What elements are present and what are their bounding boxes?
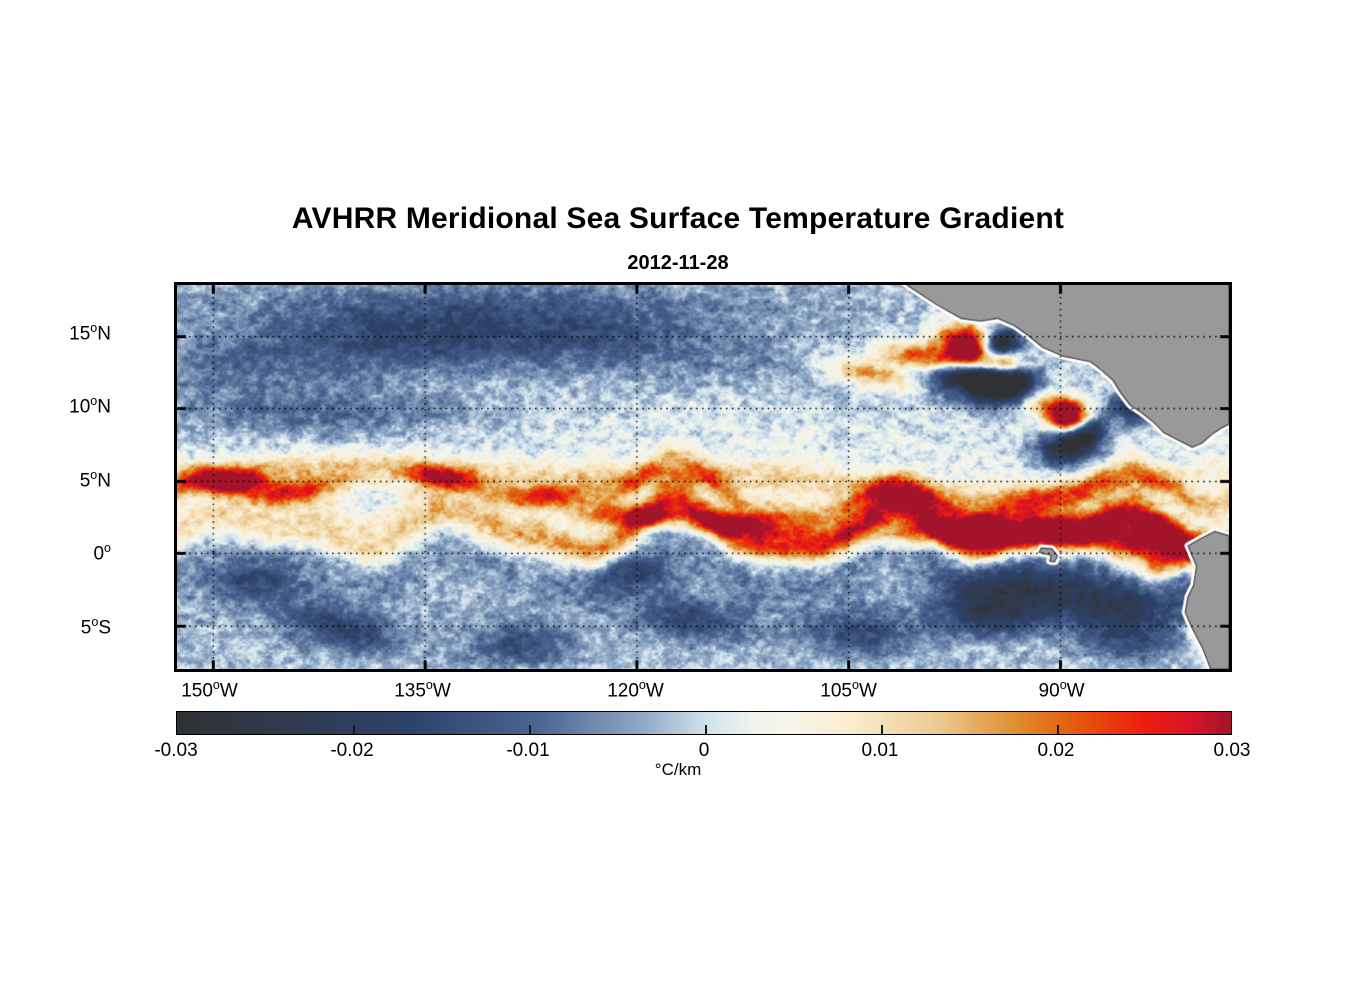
chart-title: AVHRR Meridional Sea Surface Temperature… bbox=[0, 202, 1356, 236]
x-tick-label: 135oW bbox=[394, 678, 451, 702]
colorbar-tick bbox=[1057, 725, 1059, 734]
colorbar-tick-label: 0.02 bbox=[1038, 740, 1075, 762]
y-tick-label: 5oN bbox=[80, 468, 111, 492]
colorbar-tick-label: 0 bbox=[699, 740, 710, 762]
x-tick-label: 105oW bbox=[820, 678, 877, 702]
map-area bbox=[177, 285, 1229, 669]
colorbar-tick-label: -0.01 bbox=[506, 740, 549, 762]
x-tick-label: 120oW bbox=[607, 678, 664, 702]
colorbar-tick-label: -0.02 bbox=[330, 740, 373, 762]
x-tick-label: 90oW bbox=[1039, 678, 1085, 702]
colorbar-tick bbox=[529, 725, 531, 734]
colorbar-unit-text: °C/km bbox=[655, 760, 701, 779]
colorbar-tick bbox=[353, 725, 355, 734]
y-tick-label: 10oN bbox=[69, 394, 111, 418]
map-axes bbox=[174, 282, 1232, 672]
colorbar-tick bbox=[881, 725, 883, 734]
figure-canvas: AVHRR Meridional Sea Surface Temperature… bbox=[0, 0, 1356, 1000]
colorbar-gradient bbox=[177, 712, 1231, 734]
colorbar bbox=[176, 711, 1232, 735]
y-tick-label: 15oN bbox=[69, 321, 111, 345]
y-tick-label: 0o bbox=[93, 541, 111, 565]
colorbar-tick-label: -0.03 bbox=[154, 740, 197, 762]
y-tick-label: 5oS bbox=[81, 615, 111, 639]
colorbar-tick-label: 0.01 bbox=[862, 740, 899, 762]
colorbar-tick bbox=[705, 725, 707, 734]
colorbar-tick-label: 0.03 bbox=[1214, 740, 1251, 762]
x-tick-label: 150oW bbox=[181, 678, 238, 702]
chart-subtitle: 2012-11-28 bbox=[0, 252, 1356, 275]
colorbar-unit-label: °C/km bbox=[0, 760, 1356, 780]
gridlines-and-coastline bbox=[177, 285, 1229, 669]
